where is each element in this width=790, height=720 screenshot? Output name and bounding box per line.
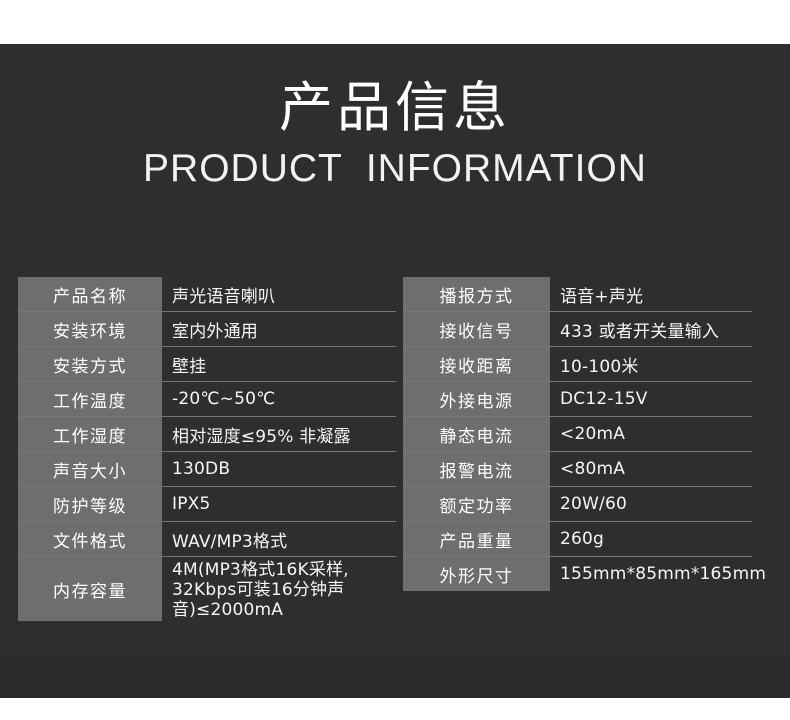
spec-label: 安装环境 [18,312,162,346]
spec-value: 相对湿度≤95% 非凝露 [162,417,396,451]
table-row: 内存容量 4M(MP3格式16K采样, 32Kbps可装16分钟声 音)≤200… [18,557,396,621]
page-title-english: PRODUCT INFORMATION [0,144,790,194]
spec-value: 20W/60 [550,487,752,521]
page-header: 产品信息 PRODUCT INFORMATION [0,78,790,194]
spec-label: 报警电流 [403,452,550,486]
spec-label: 播报方式 [403,277,550,311]
spec-value: <80mA [550,452,752,486]
spec-label: 文件格式 [18,522,162,556]
spec-value: 壁挂 [162,347,396,381]
table-row: 播报方式 语音+声光 [403,277,752,312]
spec-label: 静态电流 [403,417,550,451]
product-information-page: 产品信息 PRODUCT INFORMATION 产品名称 声光语音喇叭 安装环… [0,0,790,720]
spec-value: 130DB [162,452,396,486]
spec-value: <20mA [550,417,752,451]
spec-value: 语音+声光 [550,277,752,311]
spec-value: 433 或者开关量输入 [550,312,752,346]
table-row: 接收信号 433 或者开关量输入 [403,312,752,347]
spec-label: 工作温度 [18,382,162,416]
table-row: 声音大小 130DB [18,452,396,487]
spec-value: DC12-15V [550,382,752,416]
table-row: 防护等级 IPX5 [18,487,396,522]
spec-value: 室内外通用 [162,312,396,346]
table-row: 安装环境 室内外通用 [18,312,396,347]
table-row: 工作湿度 相对湿度≤95% 非凝露 [18,417,396,452]
page-title-chinese: 产品信息 [0,78,790,138]
table-row: 外接电源 DC12-15V [403,382,752,417]
table-row: 外形尺寸 155mm*85mm*165mm [403,557,752,591]
table-row: 额定功率 20W/60 [403,487,752,522]
spec-label: 内存容量 [18,557,162,621]
spec-value: -20℃~50℃ [162,382,396,416]
dark-background-footer-band [0,656,790,698]
spec-label: 产品名称 [18,277,162,311]
spec-label: 外接电源 [403,382,550,416]
spec-value: 声光语音喇叭 [162,277,396,311]
spec-label: 安装方式 [18,347,162,381]
spec-value: IPX5 [162,487,396,521]
spec-label: 工作湿度 [18,417,162,451]
table-row: 产品名称 声光语音喇叭 [18,277,396,312]
spec-table-left: 产品名称 声光语音喇叭 安装环境 室内外通用 安装方式 壁挂 工作温度 -20℃… [18,277,396,621]
spec-value: 4M(MP3格式16K采样, 32Kbps可装16分钟声 音)≤2000mA [162,557,396,621]
table-row: 静态电流 <20mA [403,417,752,452]
spec-label: 外形尺寸 [403,557,550,591]
spec-label: 接收距离 [403,347,550,381]
specification-tables: 产品名称 声光语音喇叭 安装环境 室内外通用 安装方式 壁挂 工作温度 -20℃… [0,277,790,622]
spec-value: WAV/MP3格式 [162,522,396,556]
table-row: 报警电流 <80mA [403,452,752,487]
table-row: 产品重量 260g [403,522,752,557]
spec-table-right: 播报方式 语音+声光 接收信号 433 或者开关量输入 接收距离 10-100米… [403,277,752,591]
spec-label: 接收信号 [403,312,550,346]
table-row: 安装方式 壁挂 [18,347,396,382]
spec-label: 额定功率 [403,487,550,521]
table-row: 接收距离 10-100米 [403,347,752,382]
table-row: 文件格式 WAV/MP3格式 [18,522,396,557]
spec-label: 产品重量 [403,522,550,556]
spec-label: 声音大小 [18,452,162,486]
spec-value: 260g [550,522,752,556]
spec-value: 10-100米 [550,347,752,381]
table-row: 工作温度 -20℃~50℃ [18,382,396,417]
spec-value: 155mm*85mm*165mm [550,557,766,591]
spec-label: 防护等级 [18,487,162,521]
